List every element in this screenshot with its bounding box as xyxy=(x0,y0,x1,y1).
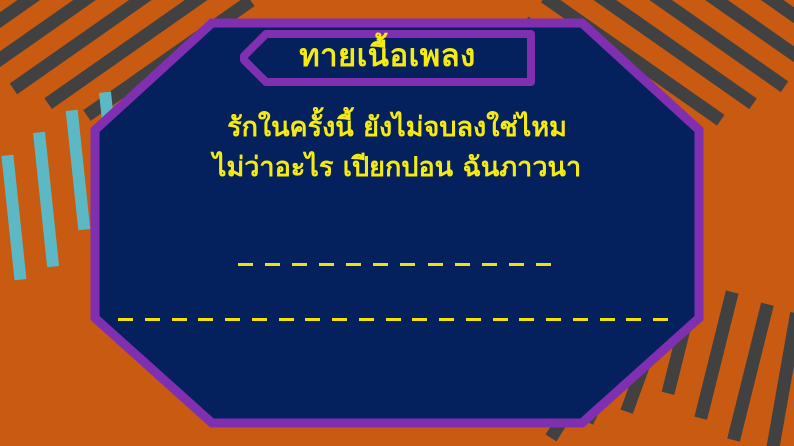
answer-blank-dash xyxy=(238,263,253,266)
answer-blank-dash xyxy=(252,318,267,321)
title-badge: ทายเนื้อเพลง xyxy=(240,30,535,86)
answer-blank-dash xyxy=(332,318,347,321)
answer-blank-dash xyxy=(359,318,374,321)
answer-blank-dash xyxy=(509,263,524,266)
answer-blank-row-2[interactable] xyxy=(118,316,668,322)
answer-blank-dash xyxy=(466,318,481,321)
answer-blank-dash xyxy=(386,318,401,321)
answer-blank-dash xyxy=(428,263,443,266)
answer-blank-dash xyxy=(145,318,160,321)
answer-blank-dash xyxy=(225,318,240,321)
answer-blank-dash xyxy=(292,263,307,266)
page-title: ทายเนื้อเพลง xyxy=(240,30,535,86)
answer-blank-dash xyxy=(373,263,388,266)
main-panel: ทายเนื้อเพลง รักในครั้งนี้ ยังไม่จบลงใช่… xyxy=(90,18,704,428)
answer-blank-dash xyxy=(439,318,454,321)
answer-blank-dash xyxy=(626,318,641,321)
answer-blank-dash xyxy=(265,263,280,266)
answer-blank-dash xyxy=(536,263,551,266)
answer-blank-dash xyxy=(172,318,187,321)
answer-blank-dash xyxy=(400,263,415,266)
answer-blank-dash xyxy=(279,318,294,321)
answer-blank-dash xyxy=(118,318,133,321)
panel-content: ทายเนื้อเพลง รักในครั้งนี้ ยังไม่จบลงใช่… xyxy=(90,18,704,428)
answer-blank-dash xyxy=(600,318,615,321)
answer-blank-dash xyxy=(573,318,588,321)
slide-canvas: ทายเนื้อเพลง รักในครั้งนี้ ยังไม่จบลงใช่… xyxy=(0,0,794,446)
answer-blank-dash xyxy=(412,318,427,321)
answer-blank-dash xyxy=(305,318,320,321)
lyric-line-2: ไม่ว่าอะไร เปียกปอน ฉันภาวนา xyxy=(90,154,704,181)
answer-blank-dash xyxy=(546,318,561,321)
lyrics-block: รักในครั้งนี้ ยังไม่จบลงใช่ไหม ไม่ว่าอะไ… xyxy=(90,114,704,181)
answer-blank-dash xyxy=(346,263,361,266)
answer-blank-dash xyxy=(455,263,470,266)
answer-blank-dash xyxy=(519,318,534,321)
answer-blank-dash xyxy=(482,263,497,266)
answer-blank-dash xyxy=(653,318,668,321)
lyric-line-1: รักในครั้งนี้ ยังไม่จบลงใช่ไหม xyxy=(90,114,704,141)
answer-blank-row-1[interactable] xyxy=(238,261,551,267)
answer-blank-dash xyxy=(198,318,213,321)
answer-blank-dash xyxy=(493,318,508,321)
answer-blank-dash xyxy=(319,263,334,266)
